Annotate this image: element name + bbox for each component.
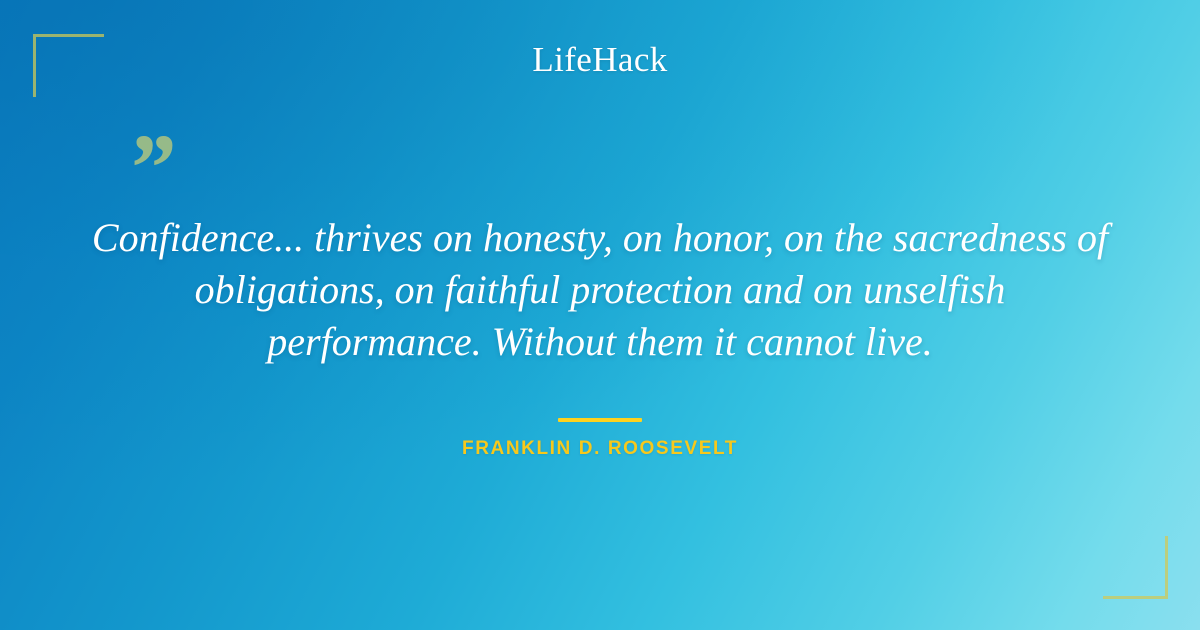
quote-card: LifeHack ” Confidence... thrives on hone… xyxy=(0,0,1200,630)
corner-bracket-bottom-right-icon xyxy=(1103,536,1168,599)
quote-mark-icon: ” xyxy=(126,120,174,216)
brand-logo: LifeHack xyxy=(0,40,1200,80)
divider-wrap xyxy=(0,409,1200,427)
quote-block: Confidence... thrives on honesty, on hon… xyxy=(90,212,1110,368)
attribution-divider xyxy=(558,418,642,422)
quote-text: Confidence... thrives on honesty, on hon… xyxy=(90,212,1110,368)
attribution-name: FRANKLIN D. ROOSEVELT xyxy=(0,438,1200,460)
